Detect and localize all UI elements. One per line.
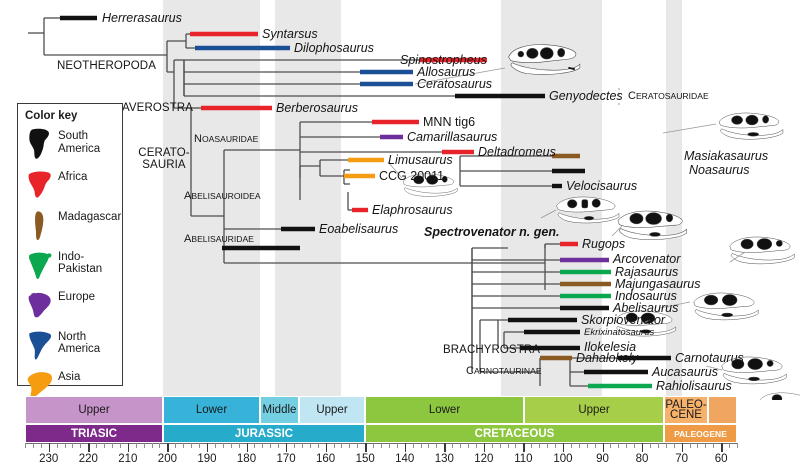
taxon-label: Rahiolisaurus (656, 380, 732, 393)
axis-tick-minor (270, 443, 271, 448)
axis-tick-minor (666, 443, 667, 448)
period-cretaceous: CRETACEOUS (365, 424, 664, 443)
axis-tick-label: 170 (276, 453, 295, 465)
axis-tick-major (49, 443, 50, 452)
color-key-item-indo-pakistan: Indo-Pakistan (24, 250, 122, 284)
epoch-lower-cretaceous: Lower (365, 396, 524, 424)
period-paleogene: PALEOGENE (664, 424, 737, 443)
taxon-label: Deltadromeus (478, 146, 556, 159)
axis-tick-minor (674, 443, 675, 448)
axis-tick-major (563, 443, 564, 452)
clade-label-ceratosauria: CERATO- SAURIA (133, 147, 195, 171)
axis-tick-major (721, 443, 722, 452)
axis-tick-major (365, 443, 366, 452)
axis-tick-minor (508, 443, 509, 448)
axis-tick-minor (239, 443, 240, 448)
africa-silhouette (26, 170, 54, 202)
axis-tick-major (247, 443, 248, 452)
taxon-label: Camarillasaurus (407, 131, 497, 144)
color-key-item-europe: Europe (24, 290, 122, 324)
axis-tick-minor (144, 443, 145, 448)
color-key-item-africa: Africa (24, 170, 122, 204)
taxon-label: Ekrixinatosaurus (584, 328, 654, 338)
axis-tick-minor (571, 443, 572, 448)
axis-tick-major (682, 443, 683, 452)
axis-tick-minor (555, 443, 556, 448)
axis-tick-major (603, 443, 604, 452)
taxon-label: Rugops (582, 238, 625, 251)
axis-tick-minor (389, 443, 390, 448)
taxon-label: Elaphrosaurus (372, 204, 453, 217)
axis-tick-minor (705, 443, 706, 448)
taxon-label: Herrerasaurus (102, 12, 182, 25)
axis-tick-minor (452, 443, 453, 448)
axis-tick-minor (436, 443, 437, 448)
axis-tick-minor (191, 443, 192, 448)
axis-tick-minor (159, 443, 160, 448)
axis-tick-label: 60 (715, 453, 728, 465)
color-key-label: Asia (58, 372, 80, 384)
color-key-label: North America (58, 332, 122, 355)
taxon-label: Masiakasaurus (684, 150, 768, 163)
clade-label-noasauridae: NOASAURIDAE (194, 134, 258, 146)
period-jurassic: JURASSIC (163, 424, 365, 443)
axis-tick-minor (223, 443, 224, 448)
indo-pakistan-silhouette (26, 250, 54, 282)
axis-tick-major (484, 443, 485, 452)
axis-tick-major (207, 443, 208, 452)
axis-tick-minor (397, 443, 398, 448)
clade-label-carnotaurinae: CARNOTAURINAE (466, 366, 542, 378)
axis-tick-label: 110 (514, 453, 532, 465)
axis-tick-minor (690, 443, 691, 448)
north-america-silhouette (26, 330, 54, 362)
axis-tick-minor (215, 443, 216, 448)
color-key-title: Color key (25, 110, 77, 122)
taxon-label: Berberosaurus (276, 102, 358, 115)
taxon-label: Skorpiovenator (581, 314, 665, 327)
taxon-label: Arcovenator (613, 253, 680, 266)
axis-tick-minor (302, 443, 303, 448)
axis-tick-minor (65, 443, 66, 448)
axis-tick-major (167, 443, 168, 452)
taxon-label: Ceratosaurus (417, 78, 492, 91)
epoch-upper-triassic: Upper (25, 396, 163, 424)
axis-tick-major (326, 443, 327, 452)
axis-tick-minor (634, 443, 635, 448)
clade-label-averostra: AVEROSTRA (122, 102, 193, 114)
taxon-label-new-genus: Spectrovenator n. gen. (424, 226, 559, 239)
taxon-label: Genyodectes (549, 90, 623, 103)
epoch-paleocene: PALEO- CENE (664, 396, 708, 424)
color-key-label: Indo-Pakistan (58, 252, 122, 275)
axis-tick-minor (112, 443, 113, 448)
axis-tick-label: 230 (39, 453, 58, 465)
europe-silhouette (26, 290, 54, 322)
epoch-lower-jurassic: Lower (163, 396, 260, 424)
axis-tick-major (88, 443, 89, 452)
color-key-label: South America (58, 130, 122, 156)
epoch-post-paleocene (708, 396, 737, 424)
axis-tick-label: 160 (316, 453, 335, 465)
axis-tick-minor (618, 443, 619, 448)
time-axis: 2302202102001901801701601501401301201101… (0, 443, 800, 474)
axis-tick-label: 70 (675, 453, 688, 465)
axis-tick-minor (587, 443, 588, 448)
axis-tick-major (444, 443, 445, 452)
axis-tick-minor (231, 443, 232, 448)
color-key-label: Africa (58, 172, 87, 184)
axis-tick-minor (341, 443, 342, 448)
axis-tick-minor (72, 443, 73, 448)
axis-tick-minor (183, 443, 184, 448)
taxon-label: Eoabelisaurus (319, 223, 398, 236)
axis-tick-minor (175, 443, 176, 448)
color-key-label: Europe (58, 292, 95, 304)
axis-tick-minor (428, 443, 429, 448)
taxon-label: Velocisaurus (566, 180, 637, 193)
color-key-item-south-america: South America (24, 128, 122, 170)
axis-tick-minor (626, 443, 627, 448)
axis-tick-label: 120 (474, 453, 493, 465)
south-america-silhouette (26, 128, 54, 160)
axis-tick-minor (349, 443, 350, 448)
axis-tick-minor (152, 443, 153, 448)
axis-tick-minor (737, 443, 738, 448)
axis-tick-minor (104, 443, 105, 448)
axis-tick-minor (373, 443, 374, 448)
axis-tick-label: 200 (158, 453, 177, 465)
taxon-label: Syntarsus (262, 28, 318, 41)
taxon-label: Limusaurus (388, 154, 453, 167)
color-key-label-text: South America (58, 130, 100, 155)
axis-tick-minor (334, 443, 335, 448)
clade-label-ceratosauridae: CERATOSAURIDAE (628, 91, 709, 103)
axis-tick-major (286, 443, 287, 452)
epoch-upper-jurassic: Upper (299, 396, 365, 424)
axis-tick-minor (318, 443, 319, 448)
axis-tick-minor (539, 443, 540, 448)
axis-tick-minor (357, 443, 358, 448)
axis-tick-minor (515, 443, 516, 448)
axis-tick-minor (25, 443, 26, 448)
axis-tick-major (405, 443, 406, 452)
axis-tick-minor (658, 443, 659, 448)
madagascar-silhouette (26, 210, 54, 242)
axis-tick-label: 150 (356, 453, 375, 465)
axis-tick-minor (254, 443, 255, 448)
axis-tick-minor (96, 443, 97, 448)
axis-tick-label: 180 (237, 453, 256, 465)
axis-tick-minor (381, 443, 382, 448)
color-key-label: Madagascar (58, 212, 121, 224)
axis-tick-minor (729, 443, 730, 448)
axis-tick-label: 100 (553, 453, 572, 465)
taxon-label: Dilophosaurus (294, 42, 374, 55)
axis-tick-minor (476, 443, 477, 448)
axis-tick-minor (697, 443, 698, 448)
taxon-label: Aucasaurus (652, 366, 718, 379)
axis-tick-major (642, 443, 643, 452)
axis-tick-minor (468, 443, 469, 448)
axis-tick-minor (595, 443, 596, 448)
axis-tick-minor (120, 443, 121, 448)
axis-tick-minor (650, 443, 651, 448)
epoch-middle-jurassic: Middle (260, 396, 299, 424)
clade-label-abelisauridae: ABELISAURIDAE (184, 234, 254, 246)
axis-tick-minor (80, 443, 81, 448)
axis-tick-minor (262, 443, 263, 448)
period-triassic: TRIASIC (25, 424, 163, 443)
clade-label-brachyrostra: BRACHYROSTRA (443, 344, 540, 356)
axis-tick-minor (610, 443, 611, 448)
taxon-label: Noasaurus (689, 164, 749, 177)
axis-tick-label: 220 (79, 453, 98, 465)
taxon-label: MNN tig6 (423, 116, 475, 129)
axis-tick-minor (421, 443, 422, 448)
clade-label-abelisauroidea: ABELISAUROIDEA (184, 191, 261, 203)
axis-tick-label: 130 (435, 453, 454, 465)
axis-tick-minor (713, 443, 714, 448)
color-key-item-madagascar: Madagascar (24, 210, 122, 244)
color-key-panel: Color key South America Africa Madagasca… (17, 103, 123, 386)
axis-tick-label: 90 (596, 453, 609, 465)
geologic-timescale: Upper Lower Middle Upper Lower Upper PAL… (0, 396, 800, 474)
axis-tick-minor (136, 443, 137, 448)
axis-tick-minor (278, 443, 279, 448)
epoch-upper-cretaceous: Upper (524, 396, 664, 424)
axis-tick-minor (500, 443, 501, 448)
axis-tick-minor (294, 443, 295, 448)
axis-tick-minor (57, 443, 58, 448)
axis-tick-major (128, 443, 129, 452)
epoch-paleocene-line2: CENE (670, 410, 702, 421)
taxon-label: CCG 20011 (379, 170, 444, 183)
color-key-item-north-america: North America (24, 330, 122, 364)
axis-tick-minor (413, 443, 414, 448)
axis-tick-minor (579, 443, 580, 448)
clade-label-neotheropoda: NEOTHEROPODA (57, 60, 156, 72)
axis-tick-minor (531, 443, 532, 448)
axis-tick-label: 210 (118, 453, 137, 465)
axis-tick-minor (492, 443, 493, 448)
axis-tick-minor (41, 443, 42, 448)
axis-tick-minor (33, 443, 34, 448)
phylogeny-figure: Herrerasaurus Syntarsus Dilophosaurus Sp… (0, 0, 800, 474)
axis-tick-label: 140 (395, 453, 414, 465)
axis-tick-minor (460, 443, 461, 448)
clade-label-ceratosauria-line1: CERATO- (138, 147, 189, 159)
clade-label-ceratosauria-line2: SAURIA (142, 159, 185, 171)
axis-tick-minor (547, 443, 548, 448)
axis-tick-label: 80 (636, 453, 649, 465)
taxon-label: Dahalokely (576, 352, 638, 365)
axis-tick-label: 190 (197, 453, 216, 465)
axis-tick-minor (310, 443, 311, 448)
axis-tick-major (523, 443, 524, 452)
axis-tick-minor (199, 443, 200, 448)
taxon-label: Carnotaurus (675, 352, 744, 365)
